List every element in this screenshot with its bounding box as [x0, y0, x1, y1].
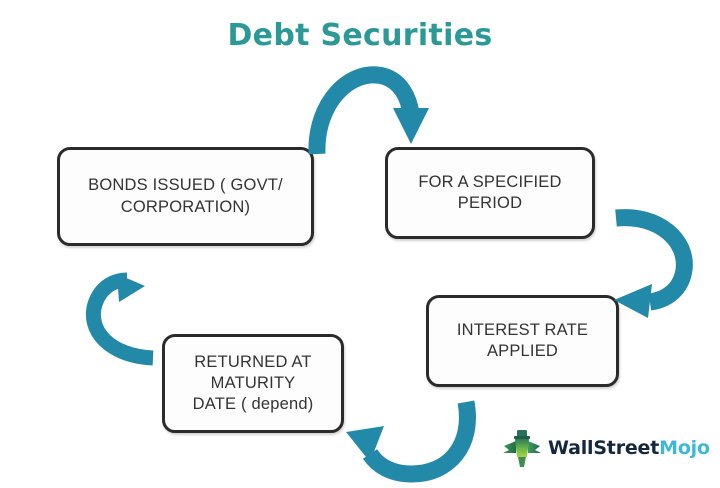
- logo-text-mojo: Mojo: [659, 437, 710, 459]
- wallstreetmojo-mark-icon: [500, 426, 544, 470]
- node-specified-period-label: FOR A SPECIFIED PERIOD: [418, 172, 561, 214]
- node-interest-rate-label: INTEREST RATE APPLIED: [457, 320, 588, 362]
- node-specified-period: FOR A SPECIFIED PERIOD: [385, 147, 595, 239]
- node-returned-maturity: RETURNED AT MATURITY DATE ( depend): [162, 334, 344, 433]
- node-returned-maturity-label: RETURNED AT MATURITY DATE ( depend): [193, 352, 314, 415]
- wallstreetmojo-logo: WallStreetMojo: [500, 424, 690, 472]
- wallstreetmojo-wordmark: WallStreetMojo: [548, 437, 710, 459]
- node-interest-rate: INTEREST RATE APPLIED: [426, 295, 619, 387]
- node-bonds-issued-label: BONDS ISSUED ( GOVT/ CORPORATION): [88, 175, 283, 217]
- page-title: Debt Securities: [0, 18, 720, 53]
- diagram-canvas: Debt Securities BONDS ISSUED ( GOVT/ COR…: [0, 0, 720, 488]
- logo-text-wallstreet: WallStreet: [548, 437, 659, 459]
- node-bonds-issued: BONDS ISSUED ( GOVT/ CORPORATION): [57, 147, 314, 246]
- arrow-bonds-to-period-icon: [305, 62, 435, 157]
- arrow-interest-to-returned-icon: [340, 398, 480, 486]
